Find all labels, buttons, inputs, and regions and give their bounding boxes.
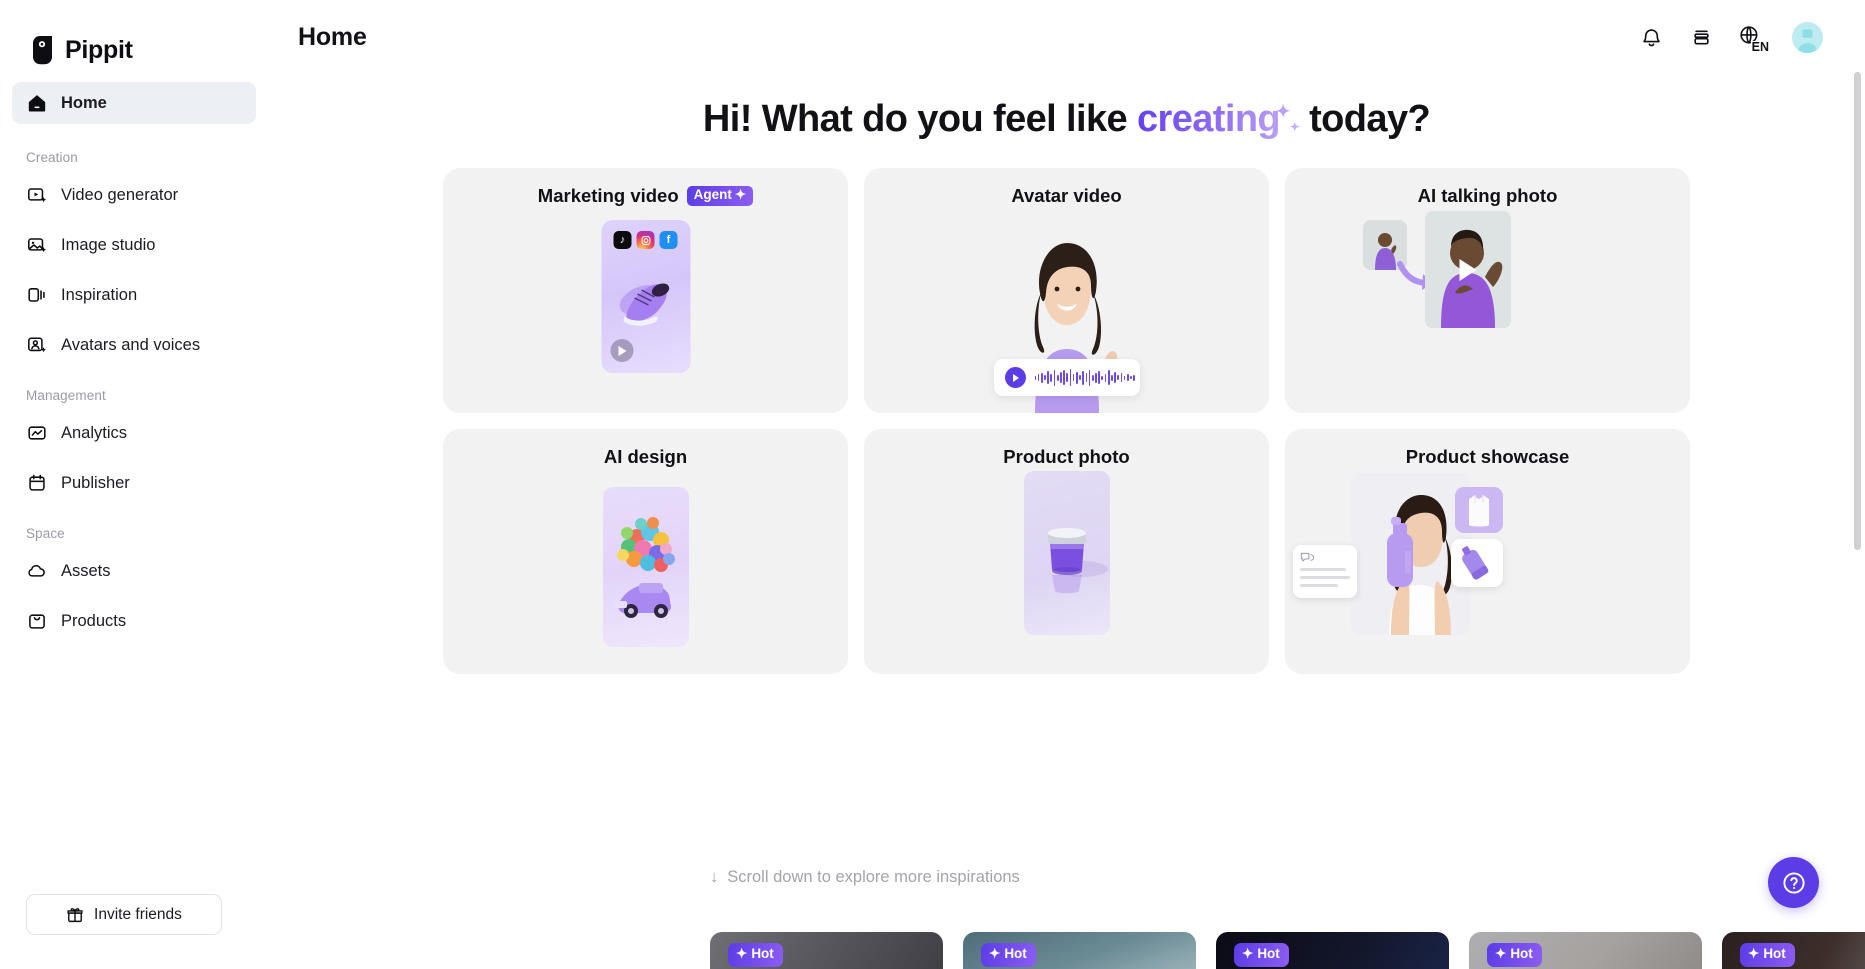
hot-badge: ✦ Hot bbox=[981, 943, 1036, 967]
scroll-hint: ↓ Scroll down to explore more inspiratio… bbox=[710, 868, 1020, 887]
hero-suffix: today? bbox=[1299, 98, 1430, 140]
hero-heading: Hi! What do you feel like creating✦✦ tod… bbox=[268, 98, 1865, 141]
card-product-photo[interactable]: Product photo bbox=[864, 429, 1269, 674]
sidebar-item-label: Publisher bbox=[61, 474, 130, 493]
card-title: Product photo bbox=[1003, 446, 1129, 468]
hot-badge-label: Hot bbox=[1004, 947, 1027, 961]
sidebar-item-analytics[interactable]: Analytics bbox=[12, 412, 256, 454]
scroll-hint-label: Scroll down to explore more inspirations bbox=[727, 868, 1020, 887]
home-icon bbox=[26, 93, 47, 114]
cosmetic-jar-illustration bbox=[1024, 471, 1110, 635]
agent-badge-label: Agent bbox=[694, 188, 732, 203]
hot-badge-label: Hot bbox=[751, 947, 774, 961]
sparkle-icon: ✦ bbox=[1276, 102, 1290, 121]
card-title: Marketing video bbox=[538, 185, 679, 207]
sidebar-item-inspiration[interactable]: Inspiration bbox=[12, 274, 256, 316]
sidebar-item-avatars-and-voices[interactable]: Avatars and voices bbox=[12, 324, 256, 366]
invite-friends-section: Invite friends bbox=[0, 894, 268, 969]
sidebar: Pippit Home Creation bbox=[0, 0, 268, 969]
pippit-logo-icon bbox=[30, 36, 56, 65]
bell-icon[interactable] bbox=[1638, 24, 1664, 50]
waveform-bars bbox=[1035, 369, 1136, 387]
card-title-row: Marketing video Agent ✦ bbox=[443, 168, 848, 224]
sidebar-item-label: Video generator bbox=[61, 186, 178, 205]
analytics-icon bbox=[26, 423, 47, 444]
hot-badge-label: Hot bbox=[1257, 947, 1280, 961]
card-title-row: AI talking photo bbox=[1285, 168, 1690, 224]
sidebar-group-management: Management bbox=[12, 374, 256, 412]
sidebar-group-creation: Creation bbox=[12, 132, 256, 174]
product-bottle-thumbnail bbox=[1451, 539, 1503, 587]
agent-badge: Agent ✦ bbox=[687, 186, 754, 206]
card-title: Product showcase bbox=[1406, 446, 1569, 468]
help-button[interactable] bbox=[1768, 857, 1819, 908]
sidebar-item-label: Products bbox=[61, 612, 126, 631]
sidebar-item-label: Inspiration bbox=[61, 286, 137, 305]
card-title: AI talking photo bbox=[1418, 185, 1558, 207]
card-title-row: Product showcase bbox=[1285, 429, 1690, 485]
sidebar-item-label: Home bbox=[61, 94, 107, 113]
top-bar-actions: EN bbox=[1638, 22, 1823, 53]
hot-card[interactable]: ✦ Hot bbox=[710, 932, 943, 969]
card-title-row: Product photo bbox=[864, 429, 1269, 485]
app-root: Pippit Home Creation bbox=[0, 0, 1865, 969]
script-line bbox=[1300, 576, 1350, 579]
inspiration-icon bbox=[26, 285, 47, 306]
cloud-icon bbox=[26, 561, 47, 582]
design-poster-thumbnail bbox=[603, 487, 689, 647]
garment-thumbnail bbox=[1455, 487, 1503, 533]
publisher-calendar-icon bbox=[26, 473, 47, 494]
balloon-car-illustration bbox=[603, 487, 689, 647]
feature-card-grid: Marketing video Agent ✦ ♪ bbox=[268, 168, 1865, 674]
social-icons-row: ♪ f bbox=[601, 231, 690, 249]
vertical-scrollbar[interactable] bbox=[1854, 72, 1861, 550]
invite-friends-label: Invite friends bbox=[94, 906, 182, 924]
products-bag-icon bbox=[26, 611, 47, 632]
inspiration-hot-row: ✦ Hot ✦ Hot ✦ Hot ✦ Hot bbox=[710, 932, 1865, 969]
sidebar-item-video-generator[interactable]: Video generator bbox=[12, 174, 256, 216]
image-studio-icon bbox=[26, 235, 47, 256]
sidebar-item-label: Analytics bbox=[61, 424, 127, 443]
avatar[interactable] bbox=[1792, 22, 1823, 53]
instagram-icon bbox=[637, 231, 655, 249]
hot-card[interactable]: ✦ Hot bbox=[963, 932, 1196, 969]
sidebar-item-label: Assets bbox=[61, 562, 111, 581]
script-line bbox=[1300, 584, 1338, 587]
play-icon bbox=[1460, 259, 1477, 281]
sidebar-item-label: Avatars and voices bbox=[61, 336, 200, 355]
hot-card[interactable]: ✦ Hot bbox=[1216, 932, 1449, 969]
sidebar-item-image-studio[interactable]: Image studio bbox=[12, 224, 256, 266]
credits-stack-icon[interactable] bbox=[1688, 24, 1714, 50]
facebook-icon: f bbox=[660, 231, 678, 249]
question-mark-icon bbox=[1781, 870, 1807, 896]
sidebar-item-publisher[interactable]: Publisher bbox=[12, 462, 256, 504]
video-generator-icon bbox=[26, 185, 47, 206]
brand[interactable]: Pippit bbox=[0, 0, 268, 74]
script-card bbox=[1293, 545, 1357, 598]
hot-card[interactable]: ✦ Hot bbox=[1722, 932, 1865, 969]
sparkle-icon: ✦ bbox=[1748, 947, 1759, 961]
hot-card[interactable]: ✦ Hot bbox=[1469, 932, 1702, 969]
product-photo-thumbnail bbox=[1024, 471, 1110, 635]
hot-badge: ✦ Hot bbox=[1740, 943, 1795, 967]
sparkle-icon: ✦ bbox=[1242, 947, 1253, 961]
play-icon bbox=[610, 339, 633, 362]
main-content: Home bbox=[268, 0, 1865, 969]
sparkle-icon: ✦ bbox=[1290, 120, 1299, 134]
language-selector[interactable]: EN bbox=[1738, 24, 1768, 50]
sparkle-icon: ✦ bbox=[1495, 947, 1506, 961]
gift-icon bbox=[66, 906, 84, 924]
hot-badge: ✦ Hot bbox=[1487, 943, 1542, 967]
hot-badge: ✦ Hot bbox=[1234, 943, 1289, 967]
sparkle-icon: ✦ bbox=[989, 947, 1000, 961]
sparkle-icon: ✦ bbox=[736, 947, 747, 961]
brand-name: Pippit bbox=[65, 36, 133, 65]
card-product-showcase[interactable]: Product showcase bbox=[1285, 429, 1690, 674]
card-avatar-video[interactable]: Avatar video bbox=[864, 168, 1269, 413]
down-arrow-icon: ↓ bbox=[710, 868, 718, 887]
script-line bbox=[1300, 568, 1346, 571]
play-icon bbox=[1005, 367, 1026, 388]
hero-prefix: Hi! What do you feel like bbox=[703, 98, 1137, 140]
top-bar: Home bbox=[268, 0, 1865, 74]
speech-icon bbox=[1300, 552, 1315, 563]
hot-badge-label: Hot bbox=[1763, 947, 1786, 961]
language-label: EN bbox=[1751, 41, 1770, 54]
card-ai-talking-photo[interactable]: AI talking photo bbox=[1285, 168, 1690, 413]
phone-mockup: ♪ f bbox=[601, 220, 690, 373]
hero-highlight: creating bbox=[1137, 98, 1280, 140]
avatars-voices-icon bbox=[26, 335, 47, 356]
sidebar-nav: Home Creation Video generator bbox=[0, 74, 268, 650]
card-title-row: AI design bbox=[443, 429, 848, 485]
sparkle-icon: ✦ bbox=[735, 188, 746, 203]
sneaker-illustration bbox=[610, 272, 682, 334]
hot-badge: ✦ Hot bbox=[728, 943, 783, 967]
sidebar-item-products[interactable]: Products bbox=[12, 600, 256, 642]
sidebar-item-label: Image studio bbox=[61, 236, 155, 255]
hot-badge-label: Hot bbox=[1510, 947, 1533, 961]
sidebar-group-space: Space bbox=[12, 512, 256, 550]
card-title-row: Avatar video bbox=[864, 168, 1269, 224]
card-marketing-video[interactable]: Marketing video Agent ✦ ♪ bbox=[443, 168, 848, 413]
invite-friends-button[interactable]: Invite friends bbox=[26, 894, 222, 935]
card-ai-design[interactable]: AI design bbox=[443, 429, 848, 674]
audio-waveform-player bbox=[994, 359, 1140, 396]
generated-video-thumbnail bbox=[1425, 211, 1511, 328]
tiktok-icon: ♪ bbox=[614, 231, 632, 249]
sidebar-item-assets[interactable]: Assets bbox=[12, 550, 256, 592]
card-title: Avatar video bbox=[1011, 185, 1121, 207]
card-title: AI design bbox=[604, 446, 687, 468]
page-title: Home bbox=[298, 23, 367, 52]
sidebar-item-home[interactable]: Home bbox=[12, 82, 256, 124]
